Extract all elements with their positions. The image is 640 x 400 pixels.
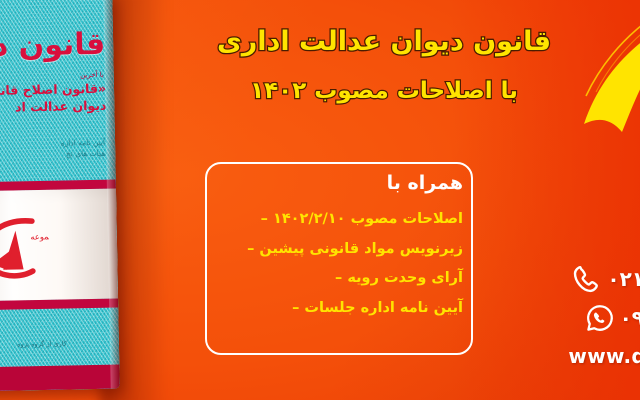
background-right-glow [450,0,640,400]
book-cover: قانون دیوا با آخرین «قانون اصلاح قانو دی… [0,0,120,391]
list-item-label: آیین نامه اداره جلسات [304,300,463,316]
feature-panel-title: همراه با [215,172,463,194]
book-logo-text: مجموعه [30,231,49,242]
book-body: قانون دیوا با آخرین «قانون اصلاح قانو دی… [0,0,120,391]
website-url[interactable]: www.d [568,344,640,368]
book-subtitle: «قانون اصلاح قانو دیوان عدالت اد [0,81,107,117]
list-item-dash: – [292,300,299,316]
list-item: آیین نامه اداره جلسات – [205,301,463,316]
ahura-publisher-logo: مجموعه [0,208,50,283]
list-item-dash: – [261,211,268,227]
whatsapp-number: ۰۹ [620,306,640,330]
whatsapp-contact[interactable]: ۰۹ [585,303,640,333]
book-footnote: آیین نامه اداره هیات های تخ [0,137,105,162]
list-item-dash: – [335,270,342,286]
page-subtitle: با اصلاحات مصوب ۱۴۰۲ [150,78,618,104]
list-item-label: آرای وحدت رویه [347,270,463,286]
list-item: زیرنویس مواد قانونی پیشین – [205,242,463,257]
book-title: قانون دیوا [0,27,106,65]
page-title: قانون دیوان عدالت اداری [150,26,618,58]
phone-contact[interactable]: ۰۲۱ [572,264,640,294]
feature-list: اصلاحات مصوب ۱۴۰۲/۲/۱۰ – زیرنویس مواد قا… [205,212,463,330]
list-item-label: اصلاحات مصوب ۱۴۰۲/۲/۱۰ [273,211,463,227]
phone-icon [572,264,602,294]
promotional-banner: قانون دیوا با آخرین «قانون اصلاح قانو دی… [0,0,640,400]
list-item: آرای وحدت رویه – [205,271,463,286]
whatsapp-icon [585,303,615,333]
list-item-label: زیرنویس مواد قانونی پیشین [259,241,463,257]
list-item-dash: – [247,241,254,257]
phone-number: ۰۲۱ [607,267,640,291]
list-item: اصلاحات مصوب ۱۴۰۲/۲/۱۰ – [205,212,463,227]
book-bottom-band [0,365,120,392]
